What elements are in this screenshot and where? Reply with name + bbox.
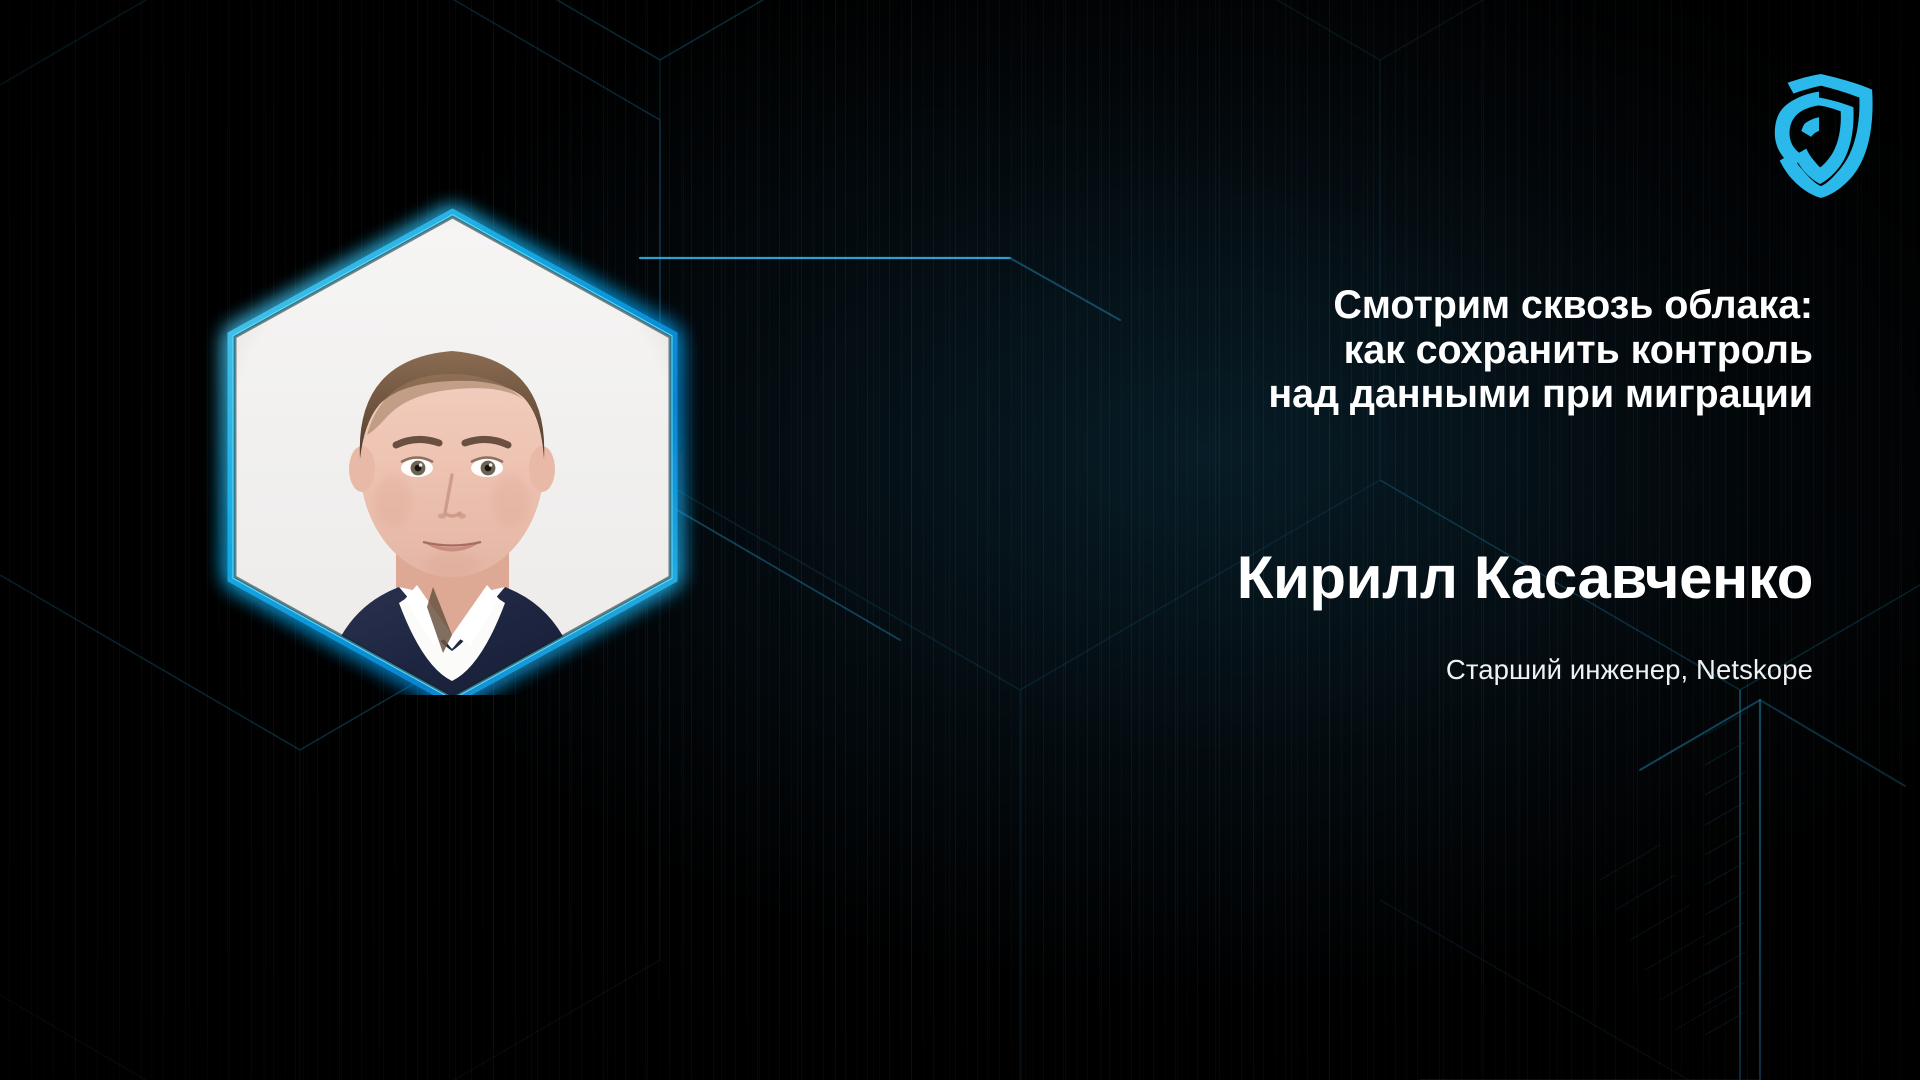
presentation-title: Смотрим сквозь облака: как сохранить кон… bbox=[1003, 283, 1813, 417]
shield-swirl-logo bbox=[1762, 70, 1880, 198]
slide-canvas: Смотрим сквозь облака: как сохранить кон… bbox=[0, 0, 1920, 1080]
text-block: Смотрим сквозь облака: как сохранить кон… bbox=[1003, 283, 1813, 417]
speaker-photo bbox=[212, 203, 692, 695]
speaker-portrait-frame bbox=[171, 183, 734, 695]
title-line-1: Смотрим сквозь облака: bbox=[1003, 283, 1813, 328]
speaker-name: Кирилл Касавченко bbox=[1003, 546, 1813, 610]
title-line-2: как сохранить контроль bbox=[1003, 328, 1813, 373]
title-line-3: над данными при миграции bbox=[1003, 372, 1813, 417]
speaker-role: Старший инженер, Netskope bbox=[1003, 654, 1813, 686]
